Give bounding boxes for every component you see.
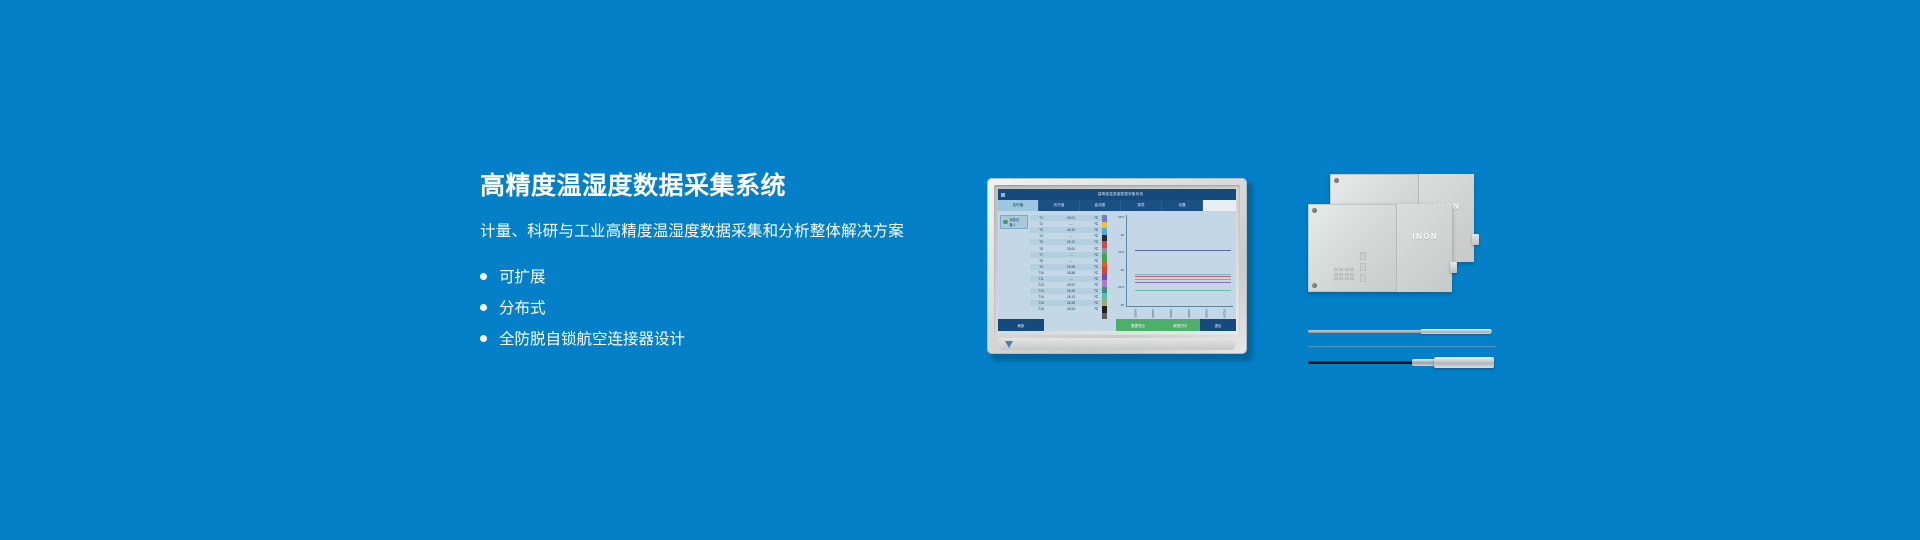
brand-label: INON [1412, 232, 1438, 241]
terminal-cell [1334, 268, 1338, 271]
channel-value: 26.28 [1052, 289, 1090, 293]
sidebar-item-device[interactable]: 采集设备-1 [1000, 215, 1028, 229]
channel-unit: ℃ [1090, 247, 1102, 251]
channel-unit: ℃ [1090, 301, 1102, 305]
chart-series-line [1135, 250, 1230, 251]
tab-history[interactable]: 历史值 [1039, 200, 1080, 211]
monitor-screen: 高精度温湿度数据采集系统 实时值 历史值 曲线图 报表 设置 采集设备-1 T1… [998, 189, 1236, 331]
channel-value: 26.19 [1052, 228, 1090, 232]
probe-cable [1308, 330, 1426, 333]
feature-label: 全防脱自锁航空连接器设计 [499, 327, 685, 349]
channel-value: 26.88 [1052, 271, 1090, 275]
chart-plot-area [1126, 215, 1233, 307]
channel-value: --- [1052, 222, 1090, 226]
y-axis-tick: 25.5 [1118, 285, 1125, 289]
channel-id: T16 [1030, 307, 1052, 311]
chart-series-line [1135, 274, 1230, 275]
chart-series-line [1135, 276, 1230, 277]
channel-unit: ℃ [1090, 253, 1102, 257]
y-axis-tick: 28.5 [1118, 215, 1125, 219]
screw-icon [1312, 208, 1317, 213]
channel-id: T7 [1030, 253, 1052, 257]
probe-tip [1420, 329, 1492, 334]
channel-id: T1 [1030, 216, 1052, 220]
blue-cable-probe [1308, 346, 1496, 348]
channel-unit: ℃ [1090, 259, 1102, 263]
channel-value: --- [1052, 259, 1090, 263]
series-color-legend [1102, 215, 1107, 319]
list-item: 可扩展 [480, 261, 950, 292]
channel-unit: ℃ [1090, 240, 1102, 244]
product-hardware-modules: INON INON [1308, 172, 1488, 352]
bullet-icon [480, 273, 487, 280]
channel-unit: ℃ [1090, 216, 1102, 220]
x-axis-tick: 14:20:20 [1151, 309, 1154, 318]
app-window-title: 高精度温湿度数据采集系统 [1008, 192, 1233, 197]
chart-series-line [1135, 282, 1230, 283]
channel-unit: ℃ [1090, 228, 1102, 232]
connector-port [1472, 234, 1479, 245]
x-axis-tick: 14:20:40 [1187, 309, 1190, 318]
channel-unit: ℃ [1090, 277, 1102, 281]
list-item: 分布式 [480, 292, 950, 323]
channel-value: 25.01 [1052, 216, 1090, 220]
status-indicator-icon [1003, 220, 1008, 225]
trend-chart: 28.52826.52625.525 14:20:1014:20:2014:20… [1109, 211, 1236, 319]
probe-body [1434, 357, 1494, 369]
tab-report[interactable]: 报表 [1121, 200, 1162, 211]
bullet-icon [480, 304, 487, 311]
x-axis-tick: 14:20:30 [1169, 309, 1172, 318]
channel-unit: ℃ [1090, 222, 1102, 226]
channel-id: T10 [1030, 271, 1052, 275]
terminal-cell [1334, 277, 1338, 280]
app-logo-icon [1001, 193, 1005, 197]
product-monitor: 高精度温湿度数据采集系统 实时值 历史值 曲线图 报表 设置 采集设备-1 T1… [987, 178, 1253, 361]
chart-x-axis: 14:20:1014:20:2014:20:3014:20:4014:20:50… [1126, 309, 1233, 318]
terminal-cell [1345, 277, 1349, 280]
x-axis-tick: 14:20:50 [1205, 309, 1208, 318]
channel-value: --- [1052, 277, 1090, 281]
channel-value: 25.61 [1052, 247, 1090, 251]
connector-port [1450, 262, 1457, 273]
channel-unit: ℃ [1090, 234, 1102, 238]
y-axis-tick: 28 [1121, 233, 1125, 237]
feature-list: 可扩展 分布式 全防脱自锁航空连接器设计 [480, 261, 950, 354]
page-title: 高精度温湿度数据采集系统 [480, 172, 950, 201]
list-item: 全防脱自锁航空连接器设计 [480, 323, 950, 354]
device-tree-sidebar: 采集设备-1 [998, 211, 1030, 319]
probe-cable [1308, 361, 1416, 364]
channel-id: T5 [1030, 240, 1052, 244]
export-data-button[interactable]: 数据导出 [1116, 319, 1160, 331]
channel-id: T4 [1030, 234, 1052, 238]
y-axis-tick: 26 [1121, 268, 1125, 272]
x-axis-tick: 14:21:00 [1223, 309, 1226, 318]
terminal-block-grid [1334, 268, 1354, 280]
terminal-cell [1339, 277, 1343, 280]
black-cable-humidity-probe [1308, 356, 1498, 370]
chart-series-line [1135, 279, 1230, 280]
screw-icon [1312, 283, 1317, 288]
banner-text-block: 高精度温湿度数据采集系统 计量、科研与工业高精度温湿度数据采集和分析整体解决方案… [480, 172, 950, 354]
channel-id: T8 [1030, 259, 1052, 263]
connector-slot-group [1360, 252, 1366, 282]
channel-id: T6 [1030, 247, 1052, 251]
channel-table: T125.01℃T2---℃T326.19℃T4---℃T526.12℃T625… [1030, 211, 1102, 319]
channel-value: 26.98 [1052, 265, 1090, 269]
channel-unit: ℃ [1090, 295, 1102, 299]
channel-id: T15 [1030, 301, 1052, 305]
channel-unit: ℃ [1090, 289, 1102, 293]
refresh-button[interactable]: 刷新 [998, 319, 1044, 331]
tab-curve[interactable]: 曲线图 [1080, 200, 1121, 211]
channel-unit: ℃ [1090, 283, 1102, 287]
channel-value: 26.98 [1052, 301, 1090, 305]
channel-value: 26.94 [1052, 307, 1090, 311]
terminal-cell [1345, 268, 1349, 271]
bullet-icon [480, 335, 487, 342]
channel-id: T11 [1030, 277, 1052, 281]
channel-value: --- [1052, 234, 1090, 238]
channel-id: T14 [1030, 295, 1052, 299]
x-axis-tick: 14:20:10 [1133, 309, 1136, 318]
monitor-stand [999, 338, 1235, 350]
print-report-button[interactable]: 报表打印 [1160, 319, 1200, 331]
chart-y-axis: 28.52826.52625.525 [1109, 215, 1125, 307]
terminal-cell [1339, 273, 1343, 276]
channel-unit: ℃ [1090, 307, 1102, 311]
product-sensor-probes [1308, 328, 1498, 374]
probe-ferrule [1412, 359, 1436, 367]
app-footer: 刷新 数据导出 报表打印 退出 [998, 319, 1236, 331]
app-tabbar: 实时值 历史值 曲线图 报表 设置 [998, 200, 1236, 211]
channel-value: 25.97 [1052, 283, 1090, 287]
connector-slot [1360, 274, 1366, 282]
screw-icon [1334, 178, 1339, 183]
enclosure-front-unit: INON [1308, 204, 1452, 292]
page-subtitle: 计量、科研与工业高精度温湿度数据采集和分析整体解决方案 [480, 219, 950, 241]
channel-value: --- [1052, 253, 1090, 257]
feature-label: 分布式 [499, 296, 546, 318]
channel-value: 26.13 [1052, 295, 1090, 299]
footer-spacer [1044, 319, 1116, 331]
stainless-temperature-probe [1308, 328, 1498, 335]
tab-realtime[interactable]: 实时值 [998, 200, 1039, 211]
y-axis-tick: 25 [1121, 303, 1125, 307]
terminal-cell [1350, 273, 1354, 276]
monitor-frame: 高精度温湿度数据采集系统 实时值 历史值 曲线图 报表 设置 采集设备-1 T1… [987, 178, 1247, 354]
app-body: 采集设备-1 T125.01℃T2---℃T326.19℃T4---℃T526.… [998, 211, 1236, 319]
tab-settings[interactable]: 设置 [1162, 200, 1203, 211]
channel-value: 26.12 [1052, 240, 1090, 244]
channel-unit: ℃ [1090, 271, 1102, 275]
channel-id: T3 [1030, 228, 1052, 232]
feature-label: 可扩展 [499, 265, 546, 287]
device-label: 采集设备-1 [1010, 217, 1026, 227]
terminal-cell [1339, 268, 1343, 271]
channel-id: T13 [1030, 289, 1052, 293]
y-axis-tick: 26.5 [1118, 250, 1125, 254]
channel-id: T9 [1030, 265, 1052, 269]
connector-slot [1360, 252, 1366, 260]
enclosure-side-face [1396, 204, 1452, 292]
channel-id: T12 [1030, 283, 1052, 287]
channel-unit: ℃ [1090, 265, 1102, 269]
terminal-cell [1350, 268, 1354, 271]
channel-id: T2 [1030, 222, 1052, 226]
connector-slot [1360, 263, 1366, 271]
table-row[interactable]: T1626.94℃ [1030, 306, 1102, 312]
chart-series-line [1135, 290, 1230, 291]
exit-button[interactable]: 退出 [1200, 319, 1236, 331]
terminal-cell [1350, 277, 1354, 280]
app-titlebar: 高精度温湿度数据采集系统 [998, 189, 1236, 200]
terminal-cell [1334, 273, 1338, 276]
terminal-cell [1345, 273, 1349, 276]
